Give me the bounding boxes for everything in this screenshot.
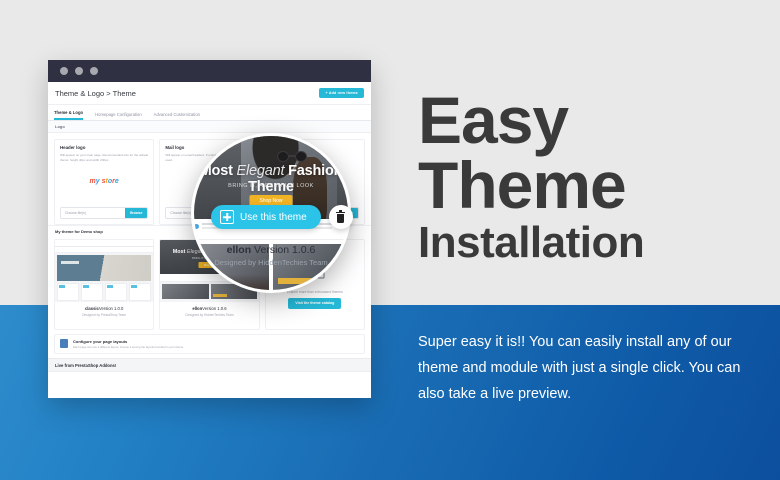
admin-tabs: Theme & Logo Homepage Configuration Adva… bbox=[48, 105, 371, 121]
sunglasses-icon bbox=[277, 151, 307, 162]
magnified-theme-designer: Designed by HiddenTechies Team bbox=[191, 258, 351, 267]
trash-icon bbox=[336, 212, 345, 223]
addons-section-header: Live from PrestaShop Addons! bbox=[48, 358, 371, 371]
ellon-hero-title-plain: Most bbox=[173, 249, 187, 255]
ellon-name: ellon bbox=[192, 306, 202, 311]
ellon-designer: Designed by HiddenTechies Team bbox=[160, 313, 258, 317]
tab-advanced-customization[interactable]: Advanced Customization bbox=[154, 112, 200, 120]
magnified-hero-subtitle: BRING IT, A PREMIUM LOOK bbox=[191, 183, 351, 189]
classic-caption: classicVersion 1.0.0 Designed by PrestaS… bbox=[55, 302, 153, 317]
headline-line-3: Installation bbox=[418, 221, 768, 264]
use-this-theme-button[interactable]: Use this theme bbox=[211, 205, 321, 229]
logo-section-header: Logo bbox=[48, 121, 371, 133]
addons-section-body bbox=[48, 371, 371, 384]
ellon-caption: ellonVersion 1.0.6 Designed by HiddenTec… bbox=[160, 302, 258, 317]
addons-title: Live from PrestaShop Addons! bbox=[55, 363, 116, 368]
body-paragraph: Super easy it is!! You can easily instal… bbox=[418, 330, 758, 407]
visit-theme-catalog-button[interactable]: Visit the theme catalog bbox=[288, 298, 341, 309]
page-layouts-description: Each page can use a different layout, ch… bbox=[73, 345, 184, 349]
classic-designer: Designed by PrestaShop Team bbox=[55, 313, 153, 317]
page-layouts-row[interactable]: Configure your page layouts Each page ca… bbox=[54, 334, 365, 354]
layout-grid-icon bbox=[60, 339, 68, 348]
header-logo-file-input[interactable]: Choose file(s) Browse bbox=[60, 207, 148, 219]
magnified-theme-caption: ellon Version 1.0.6 Designed by HiddenTe… bbox=[191, 244, 351, 267]
tab-theme-and-logo[interactable]: Theme & Logo bbox=[54, 110, 83, 120]
use-this-theme-label: Use this theme bbox=[240, 212, 307, 223]
header-logo-panel: Header logo Will appear on your main pag… bbox=[54, 139, 154, 225]
header-logo-file-placeholder: Choose file(s) bbox=[61, 208, 125, 218]
delete-theme-button[interactable] bbox=[329, 205, 353, 229]
tab-homepage-configuration[interactable]: Homepage Configuration bbox=[95, 112, 142, 120]
breadcrumb: Theme & Logo > Theme bbox=[55, 89, 136, 98]
window-close-dot-icon[interactable] bbox=[60, 67, 68, 75]
logo-section-title: Logo bbox=[55, 124, 65, 129]
classic-version: Version 1.0.0 bbox=[99, 306, 123, 311]
theme-card-classic[interactable]: classicVersion 1.0.0 Designed by PrestaS… bbox=[54, 239, 154, 330]
window-maximize-dot-icon[interactable] bbox=[90, 67, 98, 75]
add-new-theme-button[interactable]: + Add new theme bbox=[319, 88, 364, 98]
browser-titlebar bbox=[48, 60, 371, 82]
header-logo-description: Will appear on your main page. Recommend… bbox=[60, 153, 148, 162]
use-theme-action-bar: Use this theme bbox=[211, 205, 353, 229]
classic-theme-preview bbox=[55, 240, 153, 302]
header-logo-browse-button[interactable]: Browse bbox=[125, 208, 147, 218]
headline-line-1: Easy bbox=[418, 88, 768, 153]
themes-section-title: My theme for Demo shop bbox=[55, 229, 103, 234]
page-title: Easy Theme Installation bbox=[418, 88, 768, 264]
header-logo-title: Header logo bbox=[60, 145, 148, 150]
magnified-theme-name: ellon bbox=[227, 244, 252, 256]
window-minimize-dot-icon[interactable] bbox=[75, 67, 83, 75]
admin-header: Theme & Logo > Theme + Add new theme bbox=[48, 82, 371, 105]
my-store-logo: my store bbox=[60, 178, 148, 185]
magnified-hero-title: Most Elegant Fashion Theme bbox=[191, 163, 351, 195]
slide-canvas: Theme & Logo > Theme + Add new theme The… bbox=[0, 0, 780, 480]
ellon-version: Version 1.0.6 bbox=[202, 306, 226, 311]
catalog-text: Explore more than a thousand themes bbox=[287, 290, 343, 294]
magnified-theme-version: Version 1.0.6 bbox=[251, 244, 315, 256]
headline-line-2: Theme bbox=[418, 153, 768, 218]
page-layouts-title: Configure your page layouts bbox=[73, 339, 184, 344]
classic-name: classic bbox=[85, 306, 99, 311]
plus-square-icon bbox=[220, 210, 234, 224]
